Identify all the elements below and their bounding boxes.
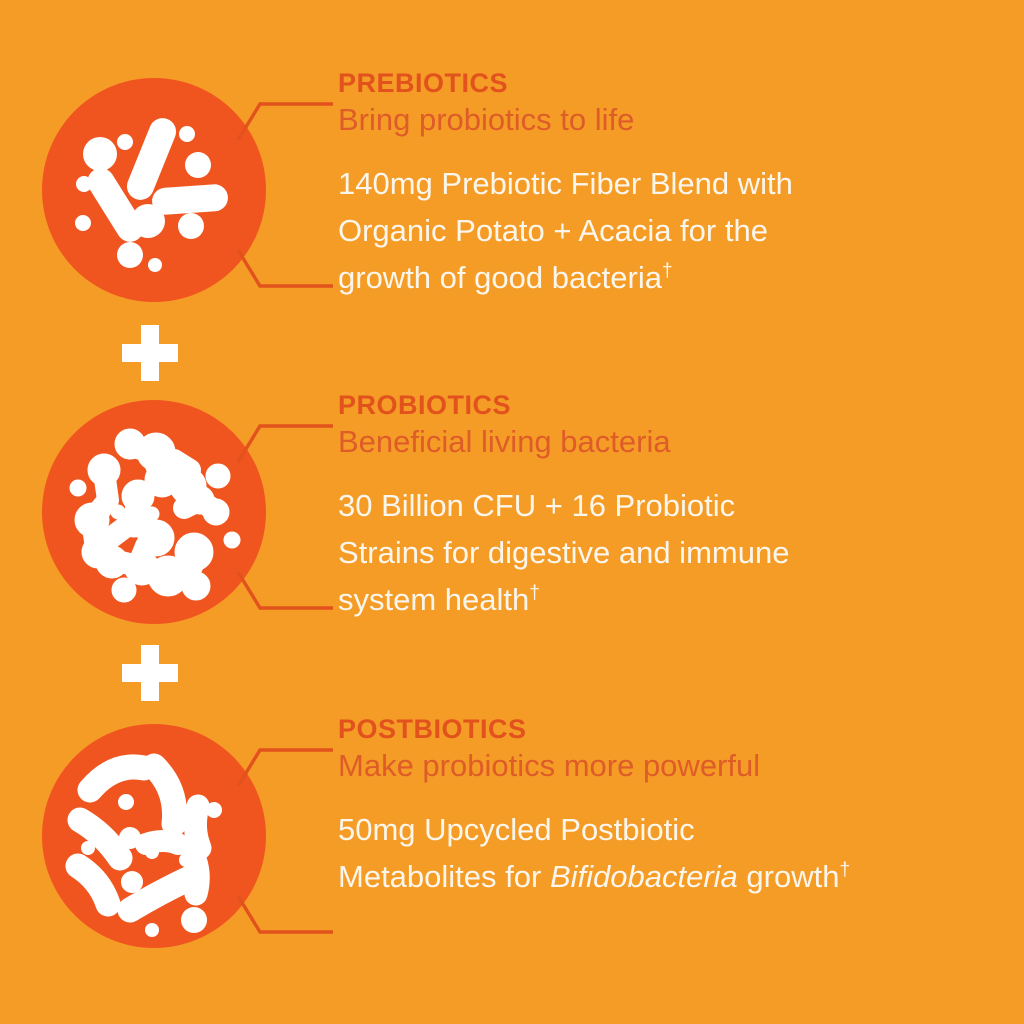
postbiotics-subtitle: Make probiotics more powerful bbox=[338, 749, 998, 784]
postbiotics-eyebrow: POSTBIOTICS bbox=[338, 716, 998, 743]
probiotics-dagger: † bbox=[529, 583, 540, 604]
postbiotics-badge bbox=[42, 724, 266, 948]
postbiotics-body-line-2-pre: Metabolites for bbox=[338, 859, 550, 894]
probiotics-eyebrow: PROBIOTICS bbox=[338, 392, 998, 419]
infographic-canvas: PREBIOTICS Bring probiotics to life 140m… bbox=[0, 0, 1024, 1024]
postbiotics-body-line-2-post: growth bbox=[738, 859, 840, 894]
probiotics-body-line-2: Strains for digestive and immune bbox=[338, 535, 789, 570]
probiotics-icon bbox=[42, 400, 266, 624]
prebiotics-body-line-2: Organic Potato + Acacia for the bbox=[338, 213, 768, 248]
prebiotics-badge bbox=[42, 78, 266, 302]
postbiotics-body-line-1: 50mg Upcycled Postbiotic bbox=[338, 812, 695, 847]
postbiotics-dagger: † bbox=[839, 860, 850, 881]
probiotics-body-line-3: system health bbox=[338, 582, 529, 617]
probiotics-badge bbox=[42, 400, 266, 624]
prebiotics-body-line-3: growth of good bacteria bbox=[338, 260, 662, 295]
plus-separator-2 bbox=[122, 645, 178, 701]
postbiotics-body-species-name: Bifidobacteria bbox=[550, 859, 738, 894]
postbiotics-body: 50mg Upcycled Postbiotic Metabolites for… bbox=[338, 806, 998, 900]
prebiotics-eyebrow: PREBIOTICS bbox=[338, 70, 998, 97]
plus-icon-vertical-bar bbox=[141, 645, 159, 701]
probiotics-text-column: PROBIOTICS Beneficial living bacteria 30… bbox=[338, 392, 998, 623]
prebiotics-icon bbox=[42, 78, 266, 302]
section-postbiotics: POSTBIOTICS Make probiotics more powerfu… bbox=[0, 716, 1024, 976]
probiotics-body: 30 Billion CFU + 16 Probiotic Strains fo… bbox=[338, 482, 998, 623]
prebiotics-subtitle: Bring probiotics to life bbox=[338, 103, 998, 138]
probiotics-subtitle: Beneficial living bacteria bbox=[338, 425, 998, 460]
prebiotics-text-column: PREBIOTICS Bring probiotics to life 140m… bbox=[338, 70, 998, 301]
probiotics-body-line-1: 30 Billion CFU + 16 Probiotic bbox=[338, 488, 735, 523]
prebiotics-dagger: † bbox=[662, 261, 673, 282]
postbiotics-text-column: POSTBIOTICS Make probiotics more powerfu… bbox=[338, 716, 998, 900]
prebiotics-body: 140mg Prebiotic Fiber Blend with Organic… bbox=[338, 160, 998, 301]
plus-separator-1 bbox=[122, 325, 178, 381]
section-prebiotics: PREBIOTICS Bring probiotics to life 140m… bbox=[0, 70, 1024, 330]
prebiotics-body-line-1: 140mg Prebiotic Fiber Blend with bbox=[338, 166, 793, 201]
section-probiotics: PROBIOTICS Beneficial living bacteria 30… bbox=[0, 392, 1024, 652]
plus-icon-vertical-bar bbox=[141, 325, 159, 381]
postbiotics-icon bbox=[42, 724, 266, 948]
